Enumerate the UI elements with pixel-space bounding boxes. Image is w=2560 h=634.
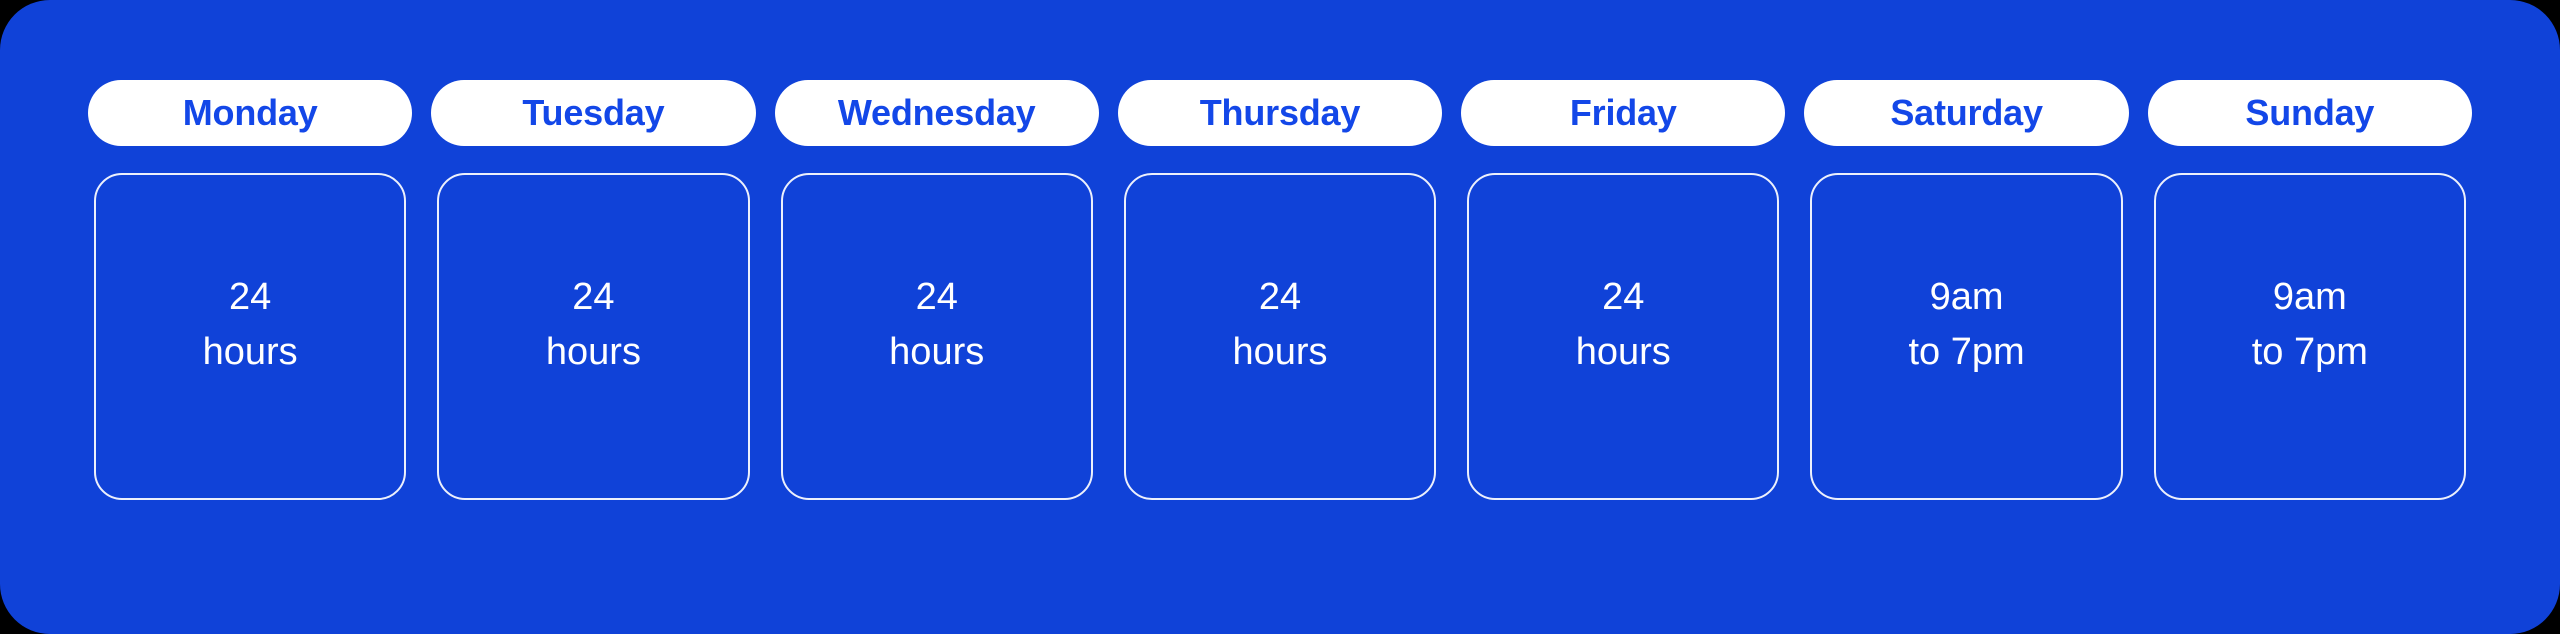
hours-card-saturday[interactable]: 9am to 7pm [1810, 173, 2122, 500]
day-column-monday: Monday 24 hours [88, 80, 412, 500]
day-column-saturday: Saturday 9am to 7pm [1804, 80, 2128, 500]
week-schedule-grid: Monday 24 hours Tuesday 24 hours [88, 80, 2472, 540]
hours-card-sunday[interactable]: 9am to 7pm [2154, 173, 2466, 500]
day-column-wednesday: Wednesday 24 hours [775, 80, 1099, 500]
hours-line-secondary: hours [1232, 333, 1327, 371]
hours-line-primary: 24 [889, 278, 984, 316]
day-pill-tuesday[interactable]: Tuesday [431, 80, 755, 146]
day-label-wednesday: Wednesday [838, 95, 1036, 131]
day-label-sunday: Sunday [2245, 95, 2374, 131]
day-column-sunday: Sunday 9am to 7pm [2148, 80, 2472, 500]
hours-text-monday: 24 hours [203, 278, 298, 371]
hours-line-secondary: hours [1576, 333, 1671, 371]
day-label-tuesday: Tuesday [522, 95, 664, 131]
hours-line-primary: 24 [1232, 278, 1327, 316]
day-pill-sunday[interactable]: Sunday [2148, 80, 2472, 146]
hours-text-sunday: 9am to 7pm [2252, 278, 2368, 371]
day-pill-friday[interactable]: Friday [1461, 80, 1785, 146]
hours-text-saturday: 9am to 7pm [1908, 278, 2024, 371]
day-column-friday: Friday 24 hours [1461, 80, 1785, 500]
hours-line-primary: 24 [1576, 278, 1671, 316]
day-pill-thursday[interactable]: Thursday [1118, 80, 1442, 146]
day-label-saturday: Saturday [1890, 95, 2042, 131]
hours-text-wednesday: 24 hours [889, 278, 984, 371]
hours-card-tuesday[interactable]: 24 hours [437, 173, 749, 500]
hours-line-secondary: to 7pm [1908, 333, 2024, 371]
hours-text-friday: 24 hours [1576, 278, 1671, 371]
day-label-thursday: Thursday [1200, 95, 1360, 131]
day-column-tuesday: Tuesday 24 hours [431, 80, 755, 500]
hours-card-friday[interactable]: 24 hours [1467, 173, 1779, 500]
hours-card-monday[interactable]: 24 hours [94, 173, 406, 500]
day-pill-monday[interactable]: Monday [88, 80, 412, 146]
day-column-thursday: Thursday 24 hours [1118, 80, 1442, 500]
hours-line-secondary: hours [889, 333, 984, 371]
hours-line-primary: 24 [546, 278, 641, 316]
hours-line-primary: 24 [203, 278, 298, 316]
hours-card-thursday[interactable]: 24 hours [1124, 173, 1436, 500]
day-label-monday: Monday [183, 95, 318, 131]
hours-line-primary: 9am [2252, 278, 2368, 316]
day-pill-wednesday[interactable]: Wednesday [775, 80, 1099, 146]
opening-hours-panel: Monday 24 hours Tuesday 24 hours [0, 0, 2560, 634]
hours-line-secondary: hours [546, 333, 641, 371]
hours-text-tuesday: 24 hours [546, 278, 641, 371]
day-label-friday: Friday [1570, 95, 1677, 131]
hours-card-wednesday[interactable]: 24 hours [781, 173, 1093, 500]
hours-text-thursday: 24 hours [1232, 278, 1327, 371]
hours-line-primary: 9am [1908, 278, 2024, 316]
day-pill-saturday[interactable]: Saturday [1804, 80, 2128, 146]
hours-line-secondary: to 7pm [2252, 333, 2368, 371]
hours-line-secondary: hours [203, 333, 298, 371]
